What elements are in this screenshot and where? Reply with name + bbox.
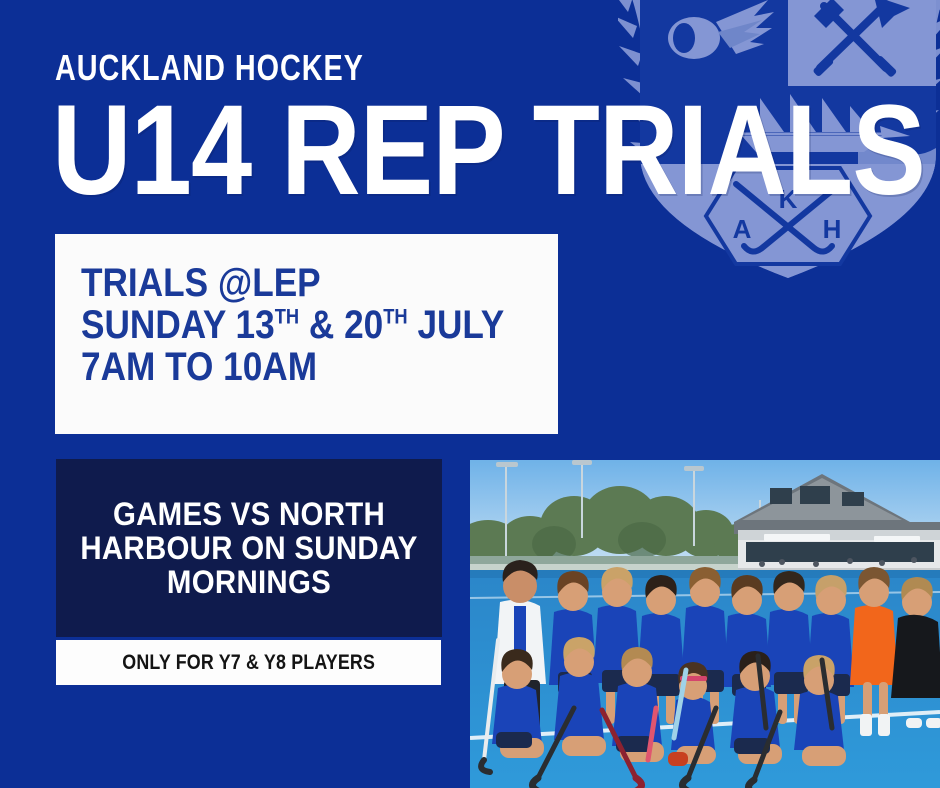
trial-venue-line: TRIALS @LEP (81, 262, 501, 304)
date-ordinal-second: TH (383, 306, 407, 329)
poster-canvas: K A H AUCKLAND HOCKEY U14 REP TRIALS TRI… (0, 0, 940, 788)
eligibility-strip: ONLY FOR Y7 & Y8 PLAYERS (56, 640, 441, 685)
page-title: U14 REP TRIALS (52, 92, 925, 210)
games-info-text: GAMES VS NORTH HARBOUR ON SUNDAY MORNING… (71, 497, 426, 599)
date-suffix: JULY (408, 303, 505, 347)
trial-date-line: SUNDAY 13TH & 20TH JULY (81, 304, 501, 346)
eligibility-text: ONLY FOR Y7 & Y8 PLAYERS (122, 651, 375, 675)
trial-details-panel: TRIALS @LEP SUNDAY 13TH & 20TH JULY 7AM … (55, 234, 558, 434)
date-prefix: SUNDAY 13 (81, 303, 275, 347)
trial-time-line: 7AM TO 10AM (81, 346, 501, 388)
date-ordinal-first: TH (275, 306, 299, 329)
games-info-panel: GAMES VS NORTH HARBOUR ON SUNDAY MORNING… (56, 459, 442, 637)
team-photo (470, 460, 940, 788)
date-middle: & 20 (299, 303, 383, 347)
